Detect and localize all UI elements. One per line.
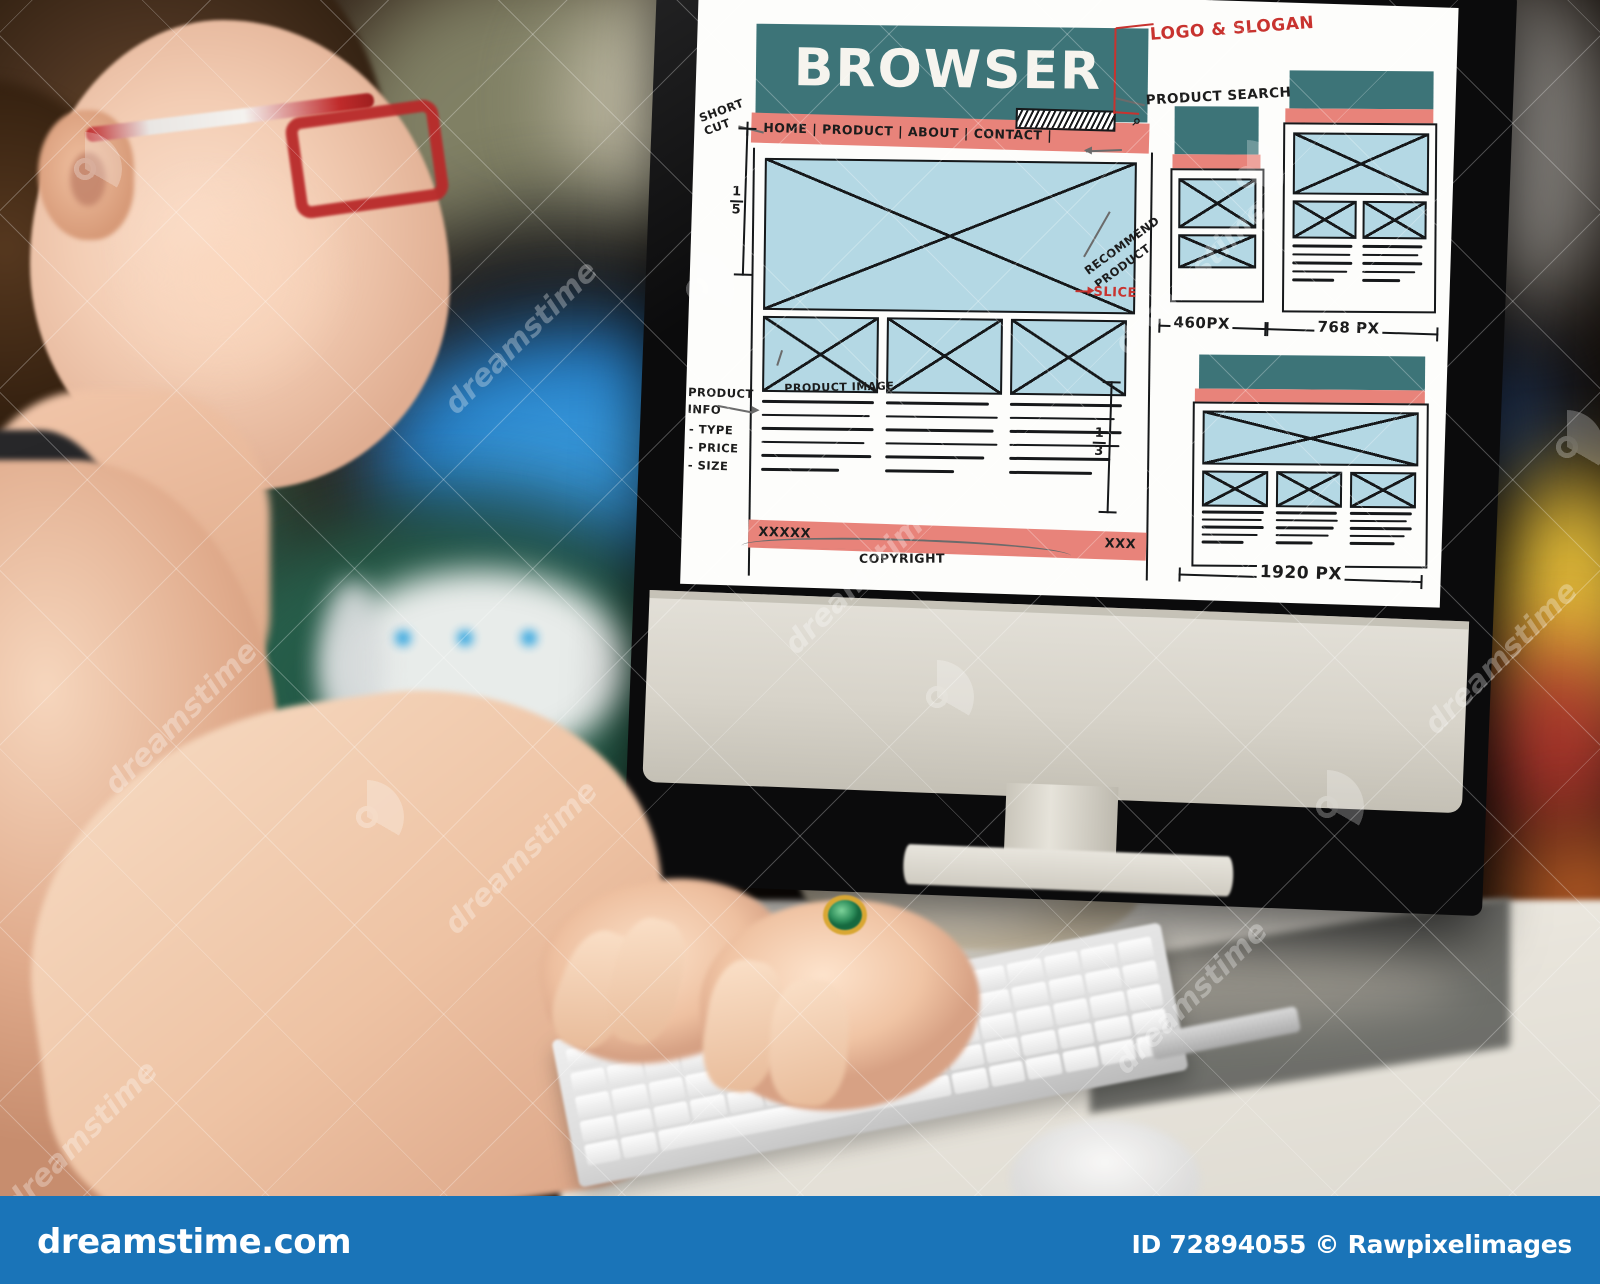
monitor-screen: BROWSER HOME | PRODUCT | ABOUT | CONTACT…: [680, 0, 1458, 608]
wireframe-desktop-textcol: [1202, 511, 1264, 545]
annotation-copyright: COPYRIGHT: [859, 551, 945, 567]
wireframe-text-column: [885, 401, 998, 473]
wireframe-text-column: [761, 400, 874, 472]
dreamstime-logo[interactable]: dreamstime.com: [22, 1222, 351, 1262]
wireframe-title: BROWSER: [751, 22, 1144, 119]
fraction-body: 1 3: [1092, 427, 1106, 459]
wireframe-mobile-image: [1178, 234, 1256, 268]
wireframe-mobile-header: [1175, 106, 1259, 154]
wireframe-tablet-768: [1282, 70, 1434, 309]
annotation-shortcut: SHORT CUT: [697, 96, 750, 139]
dimension-460: 460PX: [1159, 317, 1267, 320]
wireframe-thumbnail: [1010, 319, 1127, 396]
annotation-slice: SLICE: [1093, 285, 1137, 303]
wireframe-desktop-textcol: [1350, 512, 1412, 546]
wireframe-sketch: BROWSER HOME | PRODUCT | ABOUT | CONTACT…: [680, 0, 1458, 608]
annotation-logo-slogan: LOGO & SLOGAN: [1149, 13, 1315, 46]
wireframe-desktop-1920: [1191, 354, 1425, 564]
screenshot-root: BROWSER HOME | PRODUCT | ABOUT | CONTACT…: [0, 0, 1600, 1284]
ring-jewelry: [828, 900, 862, 930]
eyeglasses-rim: [284, 98, 451, 220]
wireframe-mobile-navbar: [1172, 154, 1260, 168]
wireframe-desktop-thumb: [1276, 471, 1342, 508]
annotation-product-price: - PRICE: [688, 440, 739, 456]
wireframe-desktop-header: [1199, 355, 1425, 391]
fraction-hero: 1 5: [730, 185, 744, 217]
dimension-label: 768 PX: [1314, 318, 1383, 338]
wireframe-tablet-hero: [1293, 132, 1429, 195]
wireframe-mobile-460: [1170, 106, 1261, 298]
annotation-product-type: - TYPE: [689, 422, 734, 438]
wireframe-desktop-thumb: [1202, 471, 1268, 508]
wireframe-tablet-textcol: [1362, 245, 1422, 282]
dimension-label: 460PX: [1170, 313, 1233, 333]
wireframe-tablet-header: [1289, 70, 1433, 109]
wireframe-mobile-image: [1178, 178, 1256, 228]
dreamstime-logo-text: dreamstime.com: [37, 1222, 351, 1262]
imac-monitor: BROWSER HOME | PRODUCT | ABOUT | CONTACT…: [622, 0, 1517, 916]
wireframe-thumbnail: [886, 317, 1003, 394]
wireframe-search-input[interactable]: [1015, 108, 1116, 132]
wireframe-tablet-textcol: [1292, 244, 1352, 281]
wireframe-desktop-hero: [1202, 411, 1418, 467]
wireframe-tablet-thumb: [1362, 201, 1426, 239]
wireframe-desktop-textcol: [1276, 511, 1338, 545]
dimension-label: 1920 PX: [1256, 562, 1345, 585]
wireframe-text-columns: [761, 400, 1130, 516]
dimension-768: 768 PX: [1267, 320, 1439, 325]
annotation-product-info: PRODUCT INFO: [687, 384, 754, 419]
annotation-product-image: PRODUCT IMAGE: [784, 380, 894, 396]
annotation-product-size: - SIZE: [688, 458, 729, 474]
wireframe-footer-right: XXX: [1104, 536, 1136, 552]
wireframe-desktop-thumb: [1350, 472, 1416, 509]
wireframe-tablet-navbar: [1285, 108, 1433, 123]
wireframe-tablet-thumb: [1292, 200, 1356, 238]
image-credit: ID 72894055 © Rawpixelimages: [1132, 1230, 1572, 1259]
wireframe-nav-items[interactable]: HOME | PRODUCT | ABOUT | CONTACT |: [763, 120, 1052, 143]
wireframe-main-desktop: BROWSER HOME | PRODUCT | ABOUT | CONTACT…: [746, 16, 1153, 581]
stock-footer-bar: dreamstime.com ID 72894055 © Rawpixelima…: [0, 1196, 1600, 1284]
